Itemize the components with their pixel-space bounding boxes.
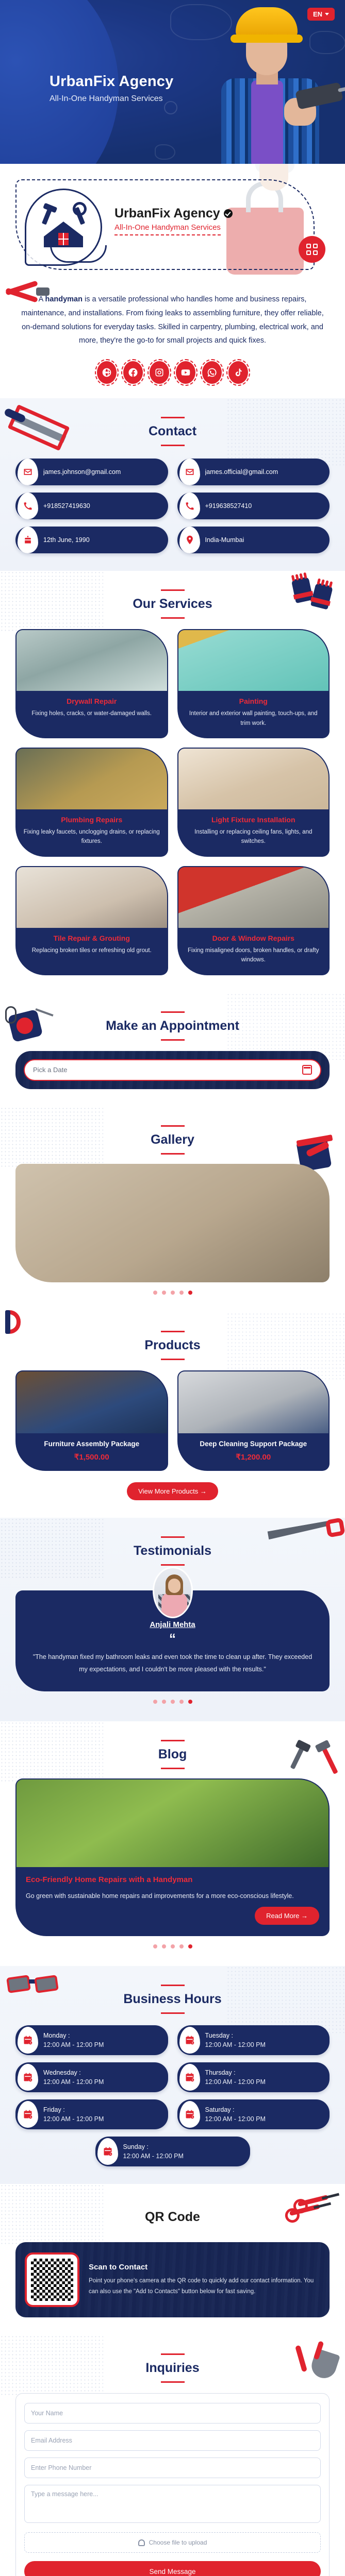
- read-more-button[interactable]: Read More →: [255, 1907, 319, 1925]
- social-links: [21, 361, 324, 384]
- date-picker[interactable]: Pick a Date: [24, 1059, 321, 1081]
- date-placeholder: Pick a Date: [33, 1066, 67, 1074]
- business-hours-day: Monday :: [43, 2032, 70, 2039]
- page-title: UrbanFix Agency: [50, 73, 173, 90]
- about-paragraph: A handyman is a versatile professional w…: [21, 293, 324, 348]
- service-desc: Fixing holes, cracks, or water-damaged w…: [23, 709, 161, 718]
- service-card[interactable]: Drywall Repair Fixing holes, cracks, or …: [15, 629, 168, 738]
- service-image: [178, 867, 329, 928]
- location-icon: [179, 527, 200, 553]
- paperclip-icon: [138, 2539, 145, 2546]
- business-hours-day: Tuesday :: [205, 2032, 233, 2039]
- product-price: ₹1,500.00: [22, 1452, 162, 1462]
- message-field[interactable]: [24, 2485, 321, 2523]
- blog-dot[interactable]: [179, 1944, 184, 1948]
- section-title-gallery: Gallery: [15, 1124, 330, 1156]
- contact-section: Contact james.johnson@gmail.com james.of…: [0, 398, 345, 571]
- service-image: [178, 749, 329, 809]
- products-section: Products Furniture Assembly Package ₹1,5…: [0, 1312, 345, 1518]
- product-image: [17, 1371, 167, 1433]
- service-card[interactable]: Light Fixture Installation Installing or…: [177, 748, 330, 857]
- section-title-appointment: Make an Appointment: [15, 1010, 330, 1042]
- business-hours-day: Saturday :: [205, 2106, 235, 2113]
- hammer-icon: [42, 207, 53, 225]
- brand-text: UrbanFix Agency All-In-One Handyman Serv…: [114, 206, 233, 235]
- language-selector[interactable]: EN: [307, 8, 335, 21]
- blog-dot[interactable]: [162, 1944, 166, 1948]
- brand-logo: [25, 189, 102, 266]
- chevron-down-icon: [325, 13, 329, 15]
- services-grid: Drywall Repair Fixing holes, cracks, or …: [15, 629, 330, 975]
- product-price: ₹1,200.00: [184, 1452, 324, 1462]
- business-hours-row: Sunday :12:00 AM - 12:00 PM: [95, 2137, 250, 2166]
- email-icon: [18, 459, 38, 485]
- testimonial-dot[interactable]: [179, 1700, 184, 1704]
- service-image: [17, 630, 167, 691]
- business-hours-time: 12:00 AM - 12:00 PM: [43, 2041, 104, 2048]
- business-hours-day: Friday :: [43, 2106, 65, 2113]
- blog-dot-active[interactable]: [188, 1944, 192, 1948]
- calendar-clock-icon: [97, 2138, 118, 2165]
- section-title-testimonials: Testimonials: [15, 1535, 330, 1567]
- service-name: Drywall Repair: [23, 697, 161, 705]
- file-upload-button[interactable]: Choose file to upload: [24, 2532, 321, 2553]
- gallery-section: Gallery: [0, 1107, 345, 1312]
- testimonial-dot[interactable]: [171, 1700, 175, 1704]
- contact-list: james.johnson@gmail.com james.official@g…: [15, 459, 330, 553]
- service-image: [178, 630, 329, 691]
- blog-image: [17, 1780, 328, 1867]
- service-desc: Interior and exterior wall painting, tou…: [185, 709, 323, 728]
- business-hours-row: Tuesday :12:00 AM - 12:00 PM: [177, 2025, 330, 2055]
- business-hours-time: 12:00 AM - 12:00 PM: [205, 2115, 266, 2123]
- vcard-page: UrbanFix Agency All-In-One Handyman Serv…: [0, 0, 345, 2576]
- contact-item-location[interactable]: India-Mumbai: [177, 527, 330, 553]
- wrench-icon: [74, 207, 85, 225]
- email-icon: [179, 459, 200, 485]
- service-name: Door & Window Repairs: [185, 934, 323, 942]
- service-card[interactable]: Door & Window Repairs Fixing misaligned …: [177, 866, 330, 975]
- language-label: EN: [313, 10, 322, 18]
- calendar-clock-icon: [179, 2027, 200, 2054]
- quote-icon: “: [29, 1633, 316, 1644]
- service-name: Tile Repair & Grouting: [23, 934, 161, 942]
- service-name: Plumbing Repairs: [23, 816, 161, 824]
- services-section: Our Services Drywall Repair Fixing holes…: [0, 571, 345, 992]
- product-name: Furniture Assembly Package: [22, 1439, 162, 1449]
- contact-value: 12th June, 1990: [43, 536, 90, 544]
- website-icon[interactable]: [97, 361, 117, 384]
- blog-dot[interactable]: [171, 1944, 175, 1948]
- business-hours-time: 12:00 AM - 12:00 PM: [43, 2115, 104, 2123]
- grid-icon: [306, 244, 318, 255]
- business-hours-day: Sunday :: [123, 2143, 149, 2150]
- hero-decor-blob-3: [155, 144, 175, 160]
- testimonial-card-wrap: Anjali Mehta “ "The handyman fixed my ba…: [15, 1590, 330, 1691]
- blog-post-desc: Go green with sustainable home repairs a…: [26, 1890, 319, 1902]
- product-name: Deep Cleaning Support Package: [184, 1439, 324, 1449]
- verified-badge-icon: [224, 209, 233, 218]
- testimonial-text: "The handyman fixed my bathroom leaks an…: [29, 1651, 316, 1676]
- calendar-icon: [302, 1065, 312, 1075]
- product-card[interactable]: Deep Cleaning Support Package ₹1,200.00: [177, 1370, 330, 1471]
- avatar: [153, 1567, 193, 1618]
- testimonial-dot[interactable]: [162, 1700, 166, 1704]
- service-desc: Replacing broken tiles or refreshing old…: [23, 946, 161, 955]
- gallery-dot[interactable]: [171, 1291, 175, 1295]
- service-desc: Fixing leaky faucets, unclogging drains,…: [23, 827, 161, 846]
- qr-heading: Scan to Contact: [89, 2263, 320, 2272]
- service-image: [17, 749, 167, 809]
- gallery-dot[interactable]: [153, 1291, 157, 1295]
- section-title-contact: Contact: [15, 416, 330, 447]
- whatsapp-icon[interactable]: [202, 361, 222, 384]
- inquiry-form: Choose file to upload Send Message: [15, 2393, 330, 2576]
- business-hours-row: Monday :12:00 AM - 12:00 PM: [15, 2025, 168, 2055]
- calendar-clock-icon: [18, 2064, 38, 2091]
- contact-item-phone-1[interactable]: +918527419630: [15, 493, 168, 519]
- business-hours-time: 12:00 AM - 12:00 PM: [205, 2078, 266, 2086]
- profile-card: UrbanFix Agency All-In-One Handyman Serv…: [0, 164, 345, 287]
- blog-dot[interactable]: [153, 1944, 157, 1948]
- brand-tagline: All-In-One Handyman Services: [114, 223, 221, 235]
- view-more-products-button[interactable]: View More Products →: [127, 1482, 218, 1500]
- testimonial-author: Anjali Mehta: [29, 1620, 316, 1629]
- service-card[interactable]: Plumbing Repairs Fixing leaky faucets, u…: [15, 748, 168, 857]
- testimonial-dot[interactable]: [153, 1700, 157, 1704]
- contact-item-phone-2[interactable]: +919638527410: [177, 493, 330, 519]
- contact-value: james.johnson@gmail.com: [43, 468, 121, 476]
- business-hours-time: 12:00 AM - 12:00 PM: [43, 2078, 104, 2086]
- business-hours-row: Wednesday :12:00 AM - 12:00 PM: [15, 2062, 168, 2092]
- contact-value: +919638527410: [205, 502, 252, 510]
- phone-icon: [179, 493, 200, 519]
- appointment-section: Make an Appointment Pick a Date: [0, 993, 345, 1107]
- contact-item-email-1[interactable]: james.johnson@gmail.com: [15, 459, 168, 485]
- service-name: Painting: [185, 697, 323, 705]
- business-hours-time: 12:00 AM - 12:00 PM: [123, 2153, 184, 2160]
- business-hours-day: Thursday :: [205, 2069, 236, 2076]
- menu-grid-button[interactable]: [299, 236, 325, 263]
- contact-value: India-Mumbai: [205, 536, 244, 544]
- inquiries-section: Inquiries Choose file to upload Send Mes…: [0, 2335, 345, 2576]
- blog-card[interactable]: Eco-Friendly Home Repairs with a Handyma…: [15, 1778, 330, 1937]
- youtube-icon[interactable]: [176, 361, 195, 384]
- business-hours-row: Thursday :12:00 AM - 12:00 PM: [177, 2062, 330, 2092]
- calendar-clock-icon: [179, 2101, 200, 2128]
- service-image: [17, 867, 167, 928]
- qr-card: Scan to Contact Point your phone's camer…: [15, 2242, 330, 2317]
- testimonial-pagination: [15, 1700, 330, 1704]
- section-title-blog: Blog: [15, 1739, 330, 1770]
- contact-item-email-2[interactable]: james.official@gmail.com: [177, 459, 330, 485]
- gallery-pagination: [15, 1291, 330, 1295]
- calendar-clock-icon: [18, 2101, 38, 2128]
- business-hours-grid: Monday :12:00 AM - 12:00 PM Tuesday :12:…: [15, 2025, 330, 2129]
- business-hours-row: Friday :12:00 AM - 12:00 PM: [15, 2099, 168, 2129]
- product-card[interactable]: Furniture Assembly Package ₹1,500.00: [15, 1370, 168, 1471]
- section-title-qr: QR Code: [15, 2201, 330, 2233]
- email-field[interactable]: [24, 2430, 321, 2451]
- service-desc: Fixing misaligned doors, broken handles,…: [185, 946, 323, 965]
- blog-section: Blog Eco-Friendly Home Repairs with a Ha…: [0, 1721, 345, 1967]
- about-section: A handyman is a versatile professional w…: [0, 287, 345, 398]
- calendar-clock-icon: [179, 2064, 200, 2091]
- blog-pagination: [15, 1944, 330, 1948]
- products-grid: Furniture Assembly Package ₹1,500.00 Dee…: [15, 1370, 330, 1471]
- gallery-image[interactable]: [15, 1164, 330, 1282]
- gallery-dot[interactable]: [162, 1291, 166, 1295]
- service-desc: Installing or replacing ceiling fans, li…: [185, 827, 323, 846]
- calendar-clock-icon: [18, 2027, 38, 2054]
- section-title-inquiries: Inquiries: [15, 2352, 330, 2384]
- hard-hat-icon: [236, 7, 298, 39]
- hero-banner: UrbanFix Agency All-In-One Handyman Serv…: [0, 0, 345, 164]
- section-title-products: Products: [15, 1330, 330, 1361]
- about-bold: handyman: [45, 295, 83, 303]
- tiktok-icon[interactable]: [228, 361, 248, 384]
- qr-description: Point your phone's camera at the QR code…: [89, 2276, 320, 2298]
- product-image: [178, 1371, 329, 1433]
- service-card[interactable]: Tile Repair & Grouting Replacing broken …: [15, 866, 168, 975]
- qr-section: QR Code Scan to Contact Point your phone…: [0, 2184, 345, 2335]
- service-name: Light Fixture Installation: [185, 816, 323, 824]
- send-message-button[interactable]: Send Message: [24, 2561, 321, 2576]
- business-hours-day: Wednesday :: [43, 2069, 81, 2076]
- instagram-icon[interactable]: [150, 361, 169, 384]
- file-upload-label: Choose file to upload: [149, 2539, 207, 2546]
- brand-name-label: UrbanFix Agency: [114, 206, 220, 221]
- blog-post-title: Eco-Friendly Home Repairs with a Handyma…: [26, 1875, 319, 1884]
- contact-value: james.official@gmail.com: [205, 468, 278, 476]
- hero-subtitle: All-In-One Handyman Services: [50, 94, 173, 104]
- appointment-card: Pick a Date: [15, 1051, 330, 1089]
- business-hours-time: 12:00 AM - 12:00 PM: [205, 2041, 266, 2048]
- business-hours-section: Business Hours Monday :12:00 AM - 12:00 …: [0, 1966, 345, 2184]
- testimonial-dot-active[interactable]: [188, 1700, 192, 1704]
- testimonials-section: Testimonials Anjali Mehta “ "The handyma…: [0, 1518, 345, 1721]
- gallery-dot-active[interactable]: [188, 1291, 192, 1295]
- facebook-icon[interactable]: [123, 361, 143, 384]
- pliers-icon: [5, 284, 50, 302]
- name-field[interactable]: [24, 2403, 321, 2424]
- contact-value: +918527419630: [43, 502, 90, 510]
- section-title-services: Our Services: [15, 588, 330, 620]
- contact-item-birthday[interactable]: 12th June, 1990: [15, 527, 168, 553]
- qr-code-image[interactable]: [25, 2252, 79, 2307]
- section-title-business-hours: Business Hours: [15, 1984, 330, 2015]
- business-hours-row: Saturday :12:00 AM - 12:00 PM: [177, 2099, 330, 2129]
- service-card[interactable]: Painting Interior and exterior wall pain…: [177, 629, 330, 738]
- cake-icon: [18, 527, 38, 553]
- brand-name: UrbanFix Agency: [114, 206, 233, 221]
- gallery-dot[interactable]: [179, 1291, 184, 1295]
- phone-icon: [18, 493, 38, 519]
- hero-worker-photo: [195, 0, 345, 164]
- phone-field[interactable]: [24, 2458, 321, 2478]
- hero-text: UrbanFix Agency All-In-One Handyman Serv…: [50, 73, 173, 104]
